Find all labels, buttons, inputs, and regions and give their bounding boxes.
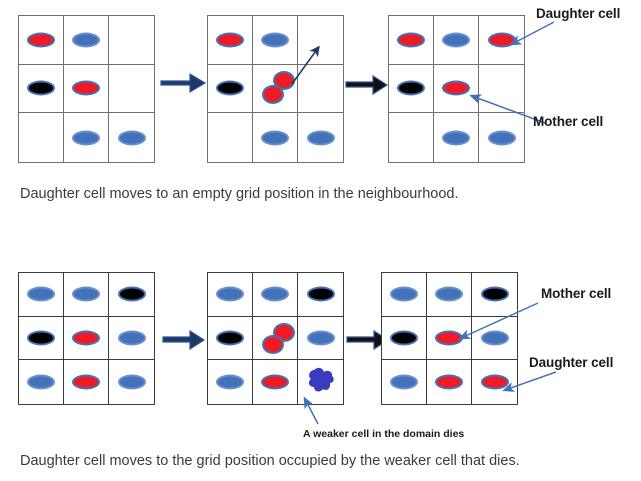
grid-cell <box>298 317 343 361</box>
grid-cell <box>109 113 154 162</box>
caption-row1: Daughter cell moves to an empty grid pos… <box>20 186 459 202</box>
grid-cell <box>64 16 109 65</box>
cell-marker-blue <box>307 130 335 145</box>
cell-marker-blue <box>72 32 100 47</box>
grid-cell <box>64 113 109 162</box>
cell-marker-blue <box>216 287 244 302</box>
grid-cell <box>253 16 298 65</box>
cell-marker-black <box>216 330 244 345</box>
grid-row1-after <box>388 15 525 163</box>
cell-marker-black <box>27 81 55 96</box>
cell-marker-red <box>72 375 100 390</box>
cell-marker-blue <box>118 375 146 390</box>
grid-cell <box>479 113 524 162</box>
cell-marker-blue <box>390 287 418 302</box>
grid-cell <box>109 273 154 317</box>
mother-blob <box>262 85 284 104</box>
grid-cell <box>19 65 64 114</box>
cell-marker-black <box>481 287 509 302</box>
grid-row2-after <box>381 272 518 405</box>
cell-marker-blue <box>118 130 146 145</box>
grid-cell <box>298 16 343 65</box>
grid-cell <box>479 65 524 114</box>
grid-row2-dividing <box>207 272 344 405</box>
cell-marker-blue <box>481 330 509 345</box>
cell-marker-blue <box>442 130 470 145</box>
mother-blob <box>262 335 284 354</box>
cell-marker-red <box>216 32 244 47</box>
cell-marker-blue <box>72 287 100 302</box>
dividing-cell-pair <box>253 65 297 113</box>
grid-cell <box>434 16 479 65</box>
grid-cell <box>19 360 64 404</box>
cell-marker-black <box>397 81 425 96</box>
grid-cell <box>253 273 298 317</box>
grid-cell-mother <box>427 317 472 361</box>
grid-cell <box>389 65 434 114</box>
grid-cell-daughter <box>472 360 517 404</box>
grid-cell-dividing <box>253 317 298 361</box>
grid-cell <box>253 113 298 162</box>
cell-marker-blue <box>216 375 244 390</box>
grid-cell <box>109 65 154 114</box>
grid-row1-dividing <box>207 15 344 163</box>
block-arrow-icon <box>345 73 389 97</box>
grid-cell <box>109 317 154 361</box>
label-daughter-cell-row2: Daughter cell <box>529 355 613 370</box>
grid-cell <box>472 273 517 317</box>
grid-cell <box>208 65 253 114</box>
cell-marker-red <box>27 32 55 47</box>
cell-marker-red <box>397 32 425 47</box>
cell-marker-blue <box>442 32 470 47</box>
cell-marker-red-daughter <box>481 375 509 390</box>
grid-cell <box>253 360 298 404</box>
grid-cell <box>19 113 64 162</box>
grid-cell <box>427 360 472 404</box>
cell-marker-blue <box>307 330 335 345</box>
cell-marker-black <box>216 81 244 96</box>
cell-marker-blue <box>261 287 289 302</box>
cell-marker-blue <box>27 375 55 390</box>
grid-row2-before <box>18 272 155 405</box>
figure-canvas: Daughter cell Mother cell Daughter cell … <box>0 0 641 481</box>
grid-cell <box>109 16 154 65</box>
label-mother-cell-row1: Mother cell <box>533 114 603 129</box>
grid-cell <box>19 317 64 361</box>
grid-row1-before <box>18 15 155 163</box>
cell-marker-red-daughter <box>488 32 516 47</box>
block-arrow-icon <box>160 70 208 96</box>
grid-cell <box>434 113 479 162</box>
label-daughter-cell-row1: Daughter cell <box>536 6 620 21</box>
cell-marker-blue <box>261 130 289 145</box>
grid-cell <box>64 273 109 317</box>
grid-cell <box>208 16 253 65</box>
cell-marker-red-mother <box>435 330 463 345</box>
note-weaker-cell-dies: A weaker cell in the domain dies <box>303 428 464 440</box>
cell-marker-red <box>261 375 289 390</box>
grid-cell <box>472 317 517 361</box>
grid-cell-dying <box>298 360 343 404</box>
caption-row2: Daughter cell moves to the grid position… <box>20 453 520 469</box>
grid-cell <box>389 16 434 65</box>
grid-cell <box>208 360 253 404</box>
block-arrow-icon <box>162 328 206 352</box>
grid-cell-dividing <box>253 65 298 114</box>
grid-cell <box>109 360 154 404</box>
cell-marker-red <box>435 375 463 390</box>
grid-cell <box>19 273 64 317</box>
cell-marker-blue <box>27 287 55 302</box>
cell-marker-blue <box>435 287 463 302</box>
cell-marker-blue <box>118 330 146 345</box>
grid-cell-mother <box>434 65 479 114</box>
grid-cell <box>208 273 253 317</box>
grid-cell <box>64 360 109 404</box>
cell-marker-blue <box>390 375 418 390</box>
cell-marker-black <box>390 330 418 345</box>
cell-marker-blue <box>488 130 516 145</box>
grid-cell <box>64 65 109 114</box>
dividing-cell-pair <box>253 317 297 360</box>
grid-cell <box>389 113 434 162</box>
grid-cell <box>298 113 343 162</box>
grid-cell <box>64 317 109 361</box>
grid-cell <box>19 16 64 65</box>
cell-marker-black <box>118 287 146 302</box>
cell-marker-blue <box>261 32 289 47</box>
label-mother-cell-row2: Mother cell <box>541 286 611 301</box>
cell-marker-red-mother <box>442 81 470 96</box>
grid-cell <box>208 317 253 361</box>
grid-cell <box>382 360 427 404</box>
grid-cell <box>298 65 343 114</box>
dying-cell-icon <box>306 366 336 394</box>
cell-marker-black <box>27 330 55 345</box>
cell-marker-blue <box>72 130 100 145</box>
grid-cell <box>382 273 427 317</box>
cell-marker-red <box>72 330 100 345</box>
cell-marker-black <box>307 287 335 302</box>
grid-cell-daughter <box>479 16 524 65</box>
grid-cell <box>382 317 427 361</box>
grid-cell <box>208 113 253 162</box>
cell-marker-red <box>72 81 100 96</box>
grid-cell <box>298 273 343 317</box>
grid-cell <box>427 273 472 317</box>
